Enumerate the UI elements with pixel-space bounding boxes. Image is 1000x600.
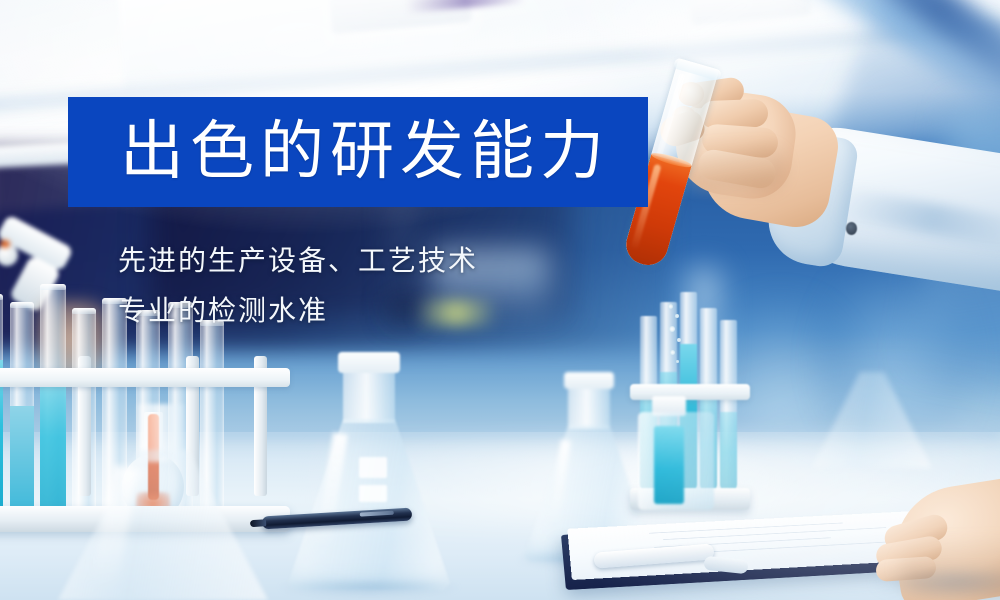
flask-body xyxy=(58,450,268,600)
flask-body xyxy=(288,419,450,590)
test-tube-rim xyxy=(0,294,3,300)
flask-collar xyxy=(564,372,613,389)
test-tube-rim xyxy=(10,302,34,308)
subtitle-line-2: 专业的检测水准 xyxy=(118,286,478,336)
resting-hand xyxy=(880,466,1000,600)
subtitle-block: 先进的生产设备、工艺技术 专业的检测水准 xyxy=(118,236,478,336)
hand-shadow xyxy=(686,144,786,190)
flask-label-upper xyxy=(359,457,387,478)
test-tube xyxy=(10,302,34,526)
test-tube-rim xyxy=(72,308,96,314)
glassware-body xyxy=(812,372,932,468)
page-title: 出色的研发能力 xyxy=(120,113,610,191)
rack-support-bar xyxy=(0,368,290,387)
foreground-glassware-right xyxy=(812,338,932,468)
flask-label-lower xyxy=(359,485,387,502)
apparatus-indicator xyxy=(0,240,10,248)
erlenmeyer-flask-main xyxy=(288,352,450,590)
bottle-liquid-cyan xyxy=(654,426,684,504)
lab-coat-button xyxy=(846,222,857,235)
flask-shadow xyxy=(278,580,459,598)
laboratory-banner-image: 出色的研发能力 先进的生产设备、工艺技术 专业的检测水准 xyxy=(0,0,1000,600)
hand-cast-shadow xyxy=(870,570,1000,600)
subtitle-line-1: 先进的生产设备、工艺技术 xyxy=(118,236,478,286)
pen-clip xyxy=(360,511,394,517)
foreground-flask xyxy=(58,404,268,600)
test-tube-rim xyxy=(40,284,66,290)
pen-tip xyxy=(250,519,266,527)
test-tube xyxy=(0,294,3,526)
lab-coat-arm xyxy=(630,54,1000,354)
flask-collar xyxy=(338,352,400,373)
